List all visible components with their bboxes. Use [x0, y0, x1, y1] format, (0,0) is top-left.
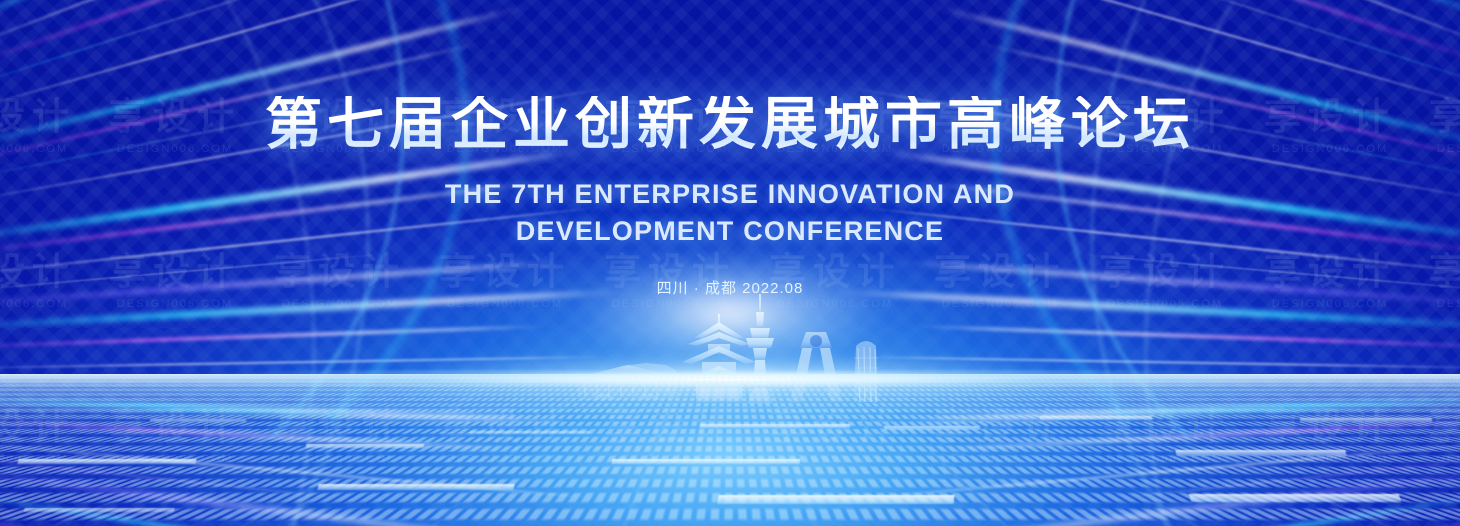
subtitle-line-1: THE 7TH ENTERPRISE INNOVATION AND: [0, 176, 1460, 213]
page-title: 第七届企业创新发展城市高峰论坛: [0, 96, 1460, 153]
subtitle-line-2: DEVELOPMENT CONFERENCE: [0, 213, 1460, 250]
poster-content: 第七届企业创新发展城市高峰论坛 THE 7TH ENTERPRISE INNOV…: [0, 0, 1460, 526]
event-location-date: 四川 · 成都 2022.08: [0, 277, 1460, 298]
conference-poster: 享设计DESIGN006.COM享设计DESIGN006.COM享设计DESIG…: [0, 0, 1460, 526]
page-subtitle: THE 7TH ENTERPRISE INNOVATION AND DEVELO…: [0, 176, 1460, 251]
